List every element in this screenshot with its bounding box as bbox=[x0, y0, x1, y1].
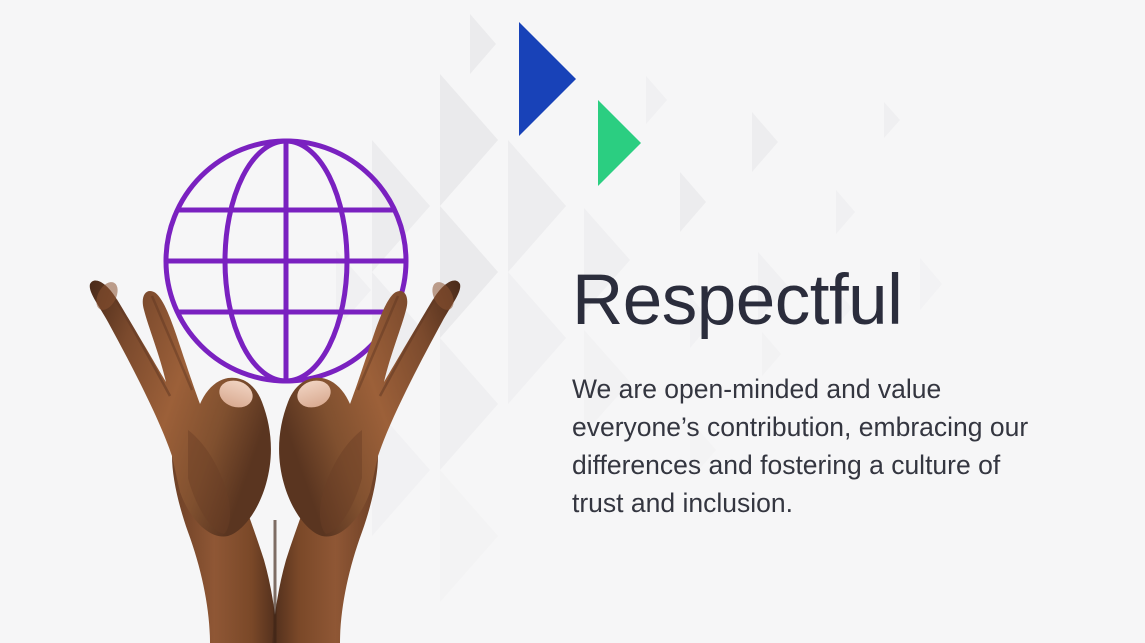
pattern-triangle bbox=[470, 14, 496, 74]
green-triangle bbox=[598, 100, 641, 186]
page-title: Respectful bbox=[572, 258, 1092, 344]
pattern-triangle bbox=[508, 140, 566, 272]
text-block: Respectful We are open-minded and value … bbox=[572, 258, 1092, 522]
pattern-triangle bbox=[646, 76, 667, 124]
pattern-triangle bbox=[884, 102, 900, 138]
slide-canvas: Respectful We are open-minded and value … bbox=[0, 0, 1145, 643]
blue-triangle bbox=[519, 22, 576, 136]
pattern-triangle bbox=[680, 172, 706, 232]
pattern-triangle bbox=[836, 190, 855, 234]
pattern-triangle bbox=[440, 74, 498, 206]
description-text: We are open-minded and value everyone’s … bbox=[572, 344, 1042, 522]
pattern-triangle bbox=[508, 272, 566, 404]
pattern-triangle bbox=[752, 112, 778, 172]
cupped-hands-photo bbox=[60, 270, 490, 643]
